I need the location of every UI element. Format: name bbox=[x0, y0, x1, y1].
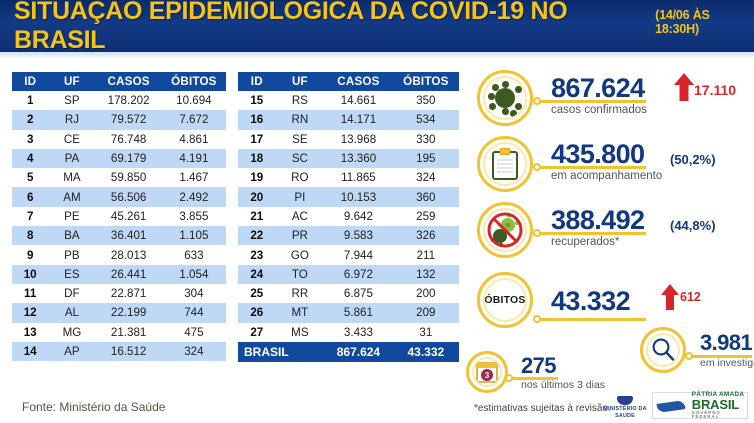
deaths-delta: 612 bbox=[680, 290, 701, 304]
cell-id: 15 bbox=[238, 91, 276, 110]
deaths-value: 43.332 bbox=[551, 286, 630, 317]
investigation-value: 3.981 bbox=[700, 330, 752, 356]
total-label: BRASIL bbox=[238, 342, 324, 362]
cell-obitos: 324 bbox=[162, 342, 226, 361]
cell-uf: PA bbox=[48, 149, 95, 168]
cell-obitos: 7.672 bbox=[162, 110, 226, 129]
cell-id: 10 bbox=[12, 265, 48, 284]
monitoring-icon-ring bbox=[477, 136, 533, 192]
table-row: 6AM56.5062.492 bbox=[12, 187, 226, 206]
cell-obitos: 195 bbox=[393, 149, 459, 168]
cell-obitos: 534 bbox=[393, 110, 459, 129]
brasil-logo-text: PÁTRIA AMADA BRASIL GOVERNO FEDERAL bbox=[692, 392, 747, 420]
cell-casos: 13.360 bbox=[324, 149, 393, 168]
cell-obitos: 633 bbox=[162, 245, 226, 264]
cell-uf: AC bbox=[276, 207, 325, 226]
virus-icon bbox=[488, 81, 522, 115]
cell-obitos: 324 bbox=[393, 168, 459, 187]
cell-obitos: 1.054 bbox=[162, 265, 226, 284]
table-row: 2RJ79.5727.672 bbox=[12, 110, 226, 129]
increase-arrow-icon bbox=[673, 72, 695, 102]
cell-obitos: 4.191 bbox=[162, 149, 226, 168]
col-header-uf: UF bbox=[276, 72, 325, 91]
cell-uf: RR bbox=[276, 284, 325, 303]
cell-obitos: 209 bbox=[393, 303, 459, 322]
table-row: 20PI10.153360 bbox=[238, 187, 459, 206]
cell-id: 22 bbox=[238, 226, 276, 245]
deaths-connector bbox=[540, 318, 646, 321]
table-row: 10ES26.4411.054 bbox=[12, 265, 226, 284]
cell-uf: MT bbox=[276, 303, 325, 322]
cell-uf: PR bbox=[276, 226, 325, 245]
cell-id: 9 bbox=[12, 245, 48, 264]
cell-casos: 9.642 bbox=[324, 207, 393, 226]
cell-id: 21 bbox=[238, 207, 276, 226]
magnifier-icon bbox=[650, 337, 676, 363]
total-casos: 867.624 bbox=[324, 342, 393, 362]
cell-casos: 14.661 bbox=[324, 91, 393, 110]
table-row: 23GO7.944211 bbox=[238, 245, 459, 264]
cell-casos: 6.875 bbox=[324, 284, 393, 303]
cell-obitos: 259 bbox=[393, 207, 459, 226]
cell-uf: CE bbox=[48, 130, 95, 149]
recovered-value: 388.492 bbox=[551, 205, 644, 236]
infographic-root: SITUAÇÃO EPIDEMIOLÓGICA DA COVID-19 NO B… bbox=[0, 0, 754, 423]
ministry-line-2: SAÚDE bbox=[602, 413, 648, 420]
table-row: 13MG21.381475 bbox=[12, 323, 226, 342]
cell-id: 2 bbox=[12, 110, 48, 129]
cell-id: 12 bbox=[12, 303, 48, 322]
cell-uf: PE bbox=[48, 207, 95, 226]
header-bar: SITUAÇÃO EPIDEMIOLÓGICA DA COVID-19 NO B… bbox=[0, 0, 754, 52]
cell-obitos: 1.467 bbox=[162, 168, 226, 187]
cell-id: 3 bbox=[12, 130, 48, 149]
table-row: 25RR6.875200 bbox=[238, 284, 459, 303]
confirmed-icon-ring bbox=[477, 70, 533, 126]
cell-id: 13 bbox=[12, 323, 48, 342]
source-text: Fonte: Ministério da Saúde bbox=[22, 400, 165, 414]
brasil-government-logo: PÁTRIA AMADA BRASIL GOVERNO FEDERAL bbox=[652, 392, 748, 419]
brasil-flag-icon bbox=[654, 393, 688, 418]
table-row: 18SC13.360195 bbox=[238, 149, 459, 168]
cell-uf: PI bbox=[276, 187, 325, 206]
table-header-row: ID UF CASOS ÓBITOS bbox=[12, 72, 226, 91]
table-row: 14AP16.512324 bbox=[12, 342, 226, 361]
cell-obitos: 304 bbox=[162, 284, 226, 303]
cell-id: 7 bbox=[12, 207, 48, 226]
cell-id: 16 bbox=[238, 110, 276, 129]
monitoring-pct: (50,2%) bbox=[670, 152, 716, 167]
cell-id: 17 bbox=[238, 130, 276, 149]
cell-uf: SC bbox=[276, 149, 325, 168]
cell-uf: DF bbox=[48, 284, 95, 303]
clipboard-icon bbox=[490, 147, 520, 181]
cell-id: 6 bbox=[12, 187, 48, 206]
col-header-casos: CASOS bbox=[95, 72, 161, 91]
cell-obitos: 326 bbox=[393, 226, 459, 245]
cell-id: 20 bbox=[238, 187, 276, 206]
cell-uf: MA bbox=[48, 168, 95, 187]
confirmed-label: casos confirmados bbox=[551, 104, 647, 116]
last3days-value: 275 bbox=[521, 353, 556, 379]
table-row: 4PA69.1794.191 bbox=[12, 149, 226, 168]
cell-casos: 22.871 bbox=[95, 284, 161, 303]
cell-uf: PB bbox=[48, 245, 95, 264]
cell-uf: RS bbox=[276, 91, 325, 110]
ministry-shield-icon bbox=[617, 396, 633, 405]
brasil-line-3: GOVERNO FEDERAL bbox=[692, 411, 747, 419]
cell-obitos: 475 bbox=[162, 323, 226, 342]
cell-casos: 14.171 bbox=[324, 110, 393, 129]
cell-id: 1 bbox=[12, 91, 48, 110]
table-left-body: 1SP178.20210.6942RJ79.5727.6723CE76.7484… bbox=[12, 91, 226, 361]
cell-casos: 59.850 bbox=[95, 168, 161, 187]
cell-id: 25 bbox=[238, 284, 276, 303]
cell-casos: 3.433 bbox=[324, 323, 393, 342]
table-row: 5MA59.8501.467 bbox=[12, 168, 226, 187]
cell-casos: 21.381 bbox=[95, 323, 161, 342]
page-title: SITUAÇÃO EPIDEMIOLÓGICA DA COVID-19 NO B… bbox=[14, 0, 648, 55]
cell-uf: AM bbox=[48, 187, 95, 206]
col-header-id: ID bbox=[238, 72, 276, 91]
cell-casos: 16.512 bbox=[95, 342, 161, 361]
col-header-obitos: ÓBITOS bbox=[162, 72, 226, 91]
cell-uf: ES bbox=[48, 265, 95, 284]
recovered-label: recuperados* bbox=[551, 236, 619, 248]
table-right-header: ID UF CASOS ÓBITOS bbox=[238, 72, 459, 91]
recovered-pct: (44,8%) bbox=[670, 218, 716, 233]
table-row: 22PR9.583326 bbox=[238, 226, 459, 245]
col-header-uf: UF bbox=[48, 72, 95, 91]
table-row: 19RO11.865324 bbox=[238, 168, 459, 187]
cell-uf: TO bbox=[276, 265, 325, 284]
table-total-row: BRASIL867.62443.332 bbox=[238, 342, 459, 362]
deaths-icon-ring: ÓBITOS bbox=[477, 272, 533, 328]
table-row: 27MS3.43331 bbox=[238, 323, 459, 342]
footnote-text: *estimativas sujeitas à revisão. bbox=[474, 403, 611, 414]
cell-uf: AP bbox=[48, 342, 95, 361]
cell-id: 26 bbox=[238, 303, 276, 322]
cell-obitos: 10.694 bbox=[162, 91, 226, 110]
cell-obitos: 31 bbox=[393, 323, 459, 342]
monitoring-value: 435.800 bbox=[551, 139, 644, 170]
cell-uf: BA bbox=[48, 226, 95, 245]
table-row: 26MT5.861209 bbox=[238, 303, 459, 322]
cell-casos: 28.013 bbox=[95, 245, 161, 264]
cell-uf: GO bbox=[276, 245, 325, 264]
cell-casos: 9.583 bbox=[324, 226, 393, 245]
cell-casos: 36.401 bbox=[95, 226, 161, 245]
table-row: 24TO6.972132 bbox=[238, 265, 459, 284]
col-header-id: ID bbox=[12, 72, 48, 91]
cell-casos: 11.865 bbox=[324, 168, 393, 187]
table-row: 17SE13.968330 bbox=[238, 130, 459, 149]
cell-casos: 6.972 bbox=[324, 265, 393, 284]
cell-id: 24 bbox=[238, 265, 276, 284]
cell-casos: 45.261 bbox=[95, 207, 161, 226]
cell-uf: SE bbox=[276, 130, 325, 149]
cell-id: 4 bbox=[12, 149, 48, 168]
investigation-label: em investigação bbox=[700, 357, 754, 369]
cell-casos: 26.441 bbox=[95, 265, 161, 284]
cell-casos: 178.202 bbox=[95, 91, 161, 110]
cell-casos: 7.944 bbox=[324, 245, 393, 264]
cell-id: 18 bbox=[238, 149, 276, 168]
cell-obitos: 330 bbox=[393, 130, 459, 149]
cell-obitos: 2.492 bbox=[162, 187, 226, 206]
table-row: 12AL22.199744 bbox=[12, 303, 226, 322]
cell-casos: 13.968 bbox=[324, 130, 393, 149]
header-date: (14/06 ÀS 18:30H) bbox=[655, 8, 754, 36]
investigation-icon-ring bbox=[640, 327, 686, 373]
cell-casos: 10.153 bbox=[324, 187, 393, 206]
cell-id: 8 bbox=[12, 226, 48, 245]
cell-obitos: 211 bbox=[393, 245, 459, 264]
cell-obitos: 132 bbox=[393, 265, 459, 284]
confirmed-delta: 17.110 bbox=[694, 82, 736, 98]
state-table-right: ID UF CASOS ÓBITOS 15RS14.66135016RN14.1… bbox=[238, 72, 459, 362]
cell-obitos: 4.861 bbox=[162, 130, 226, 149]
table-right-body: 15RS14.66135016RN14.17153417SE13.9683301… bbox=[238, 91, 459, 362]
cell-casos: 56.506 bbox=[95, 187, 161, 206]
table-row: 1SP178.20210.694 bbox=[12, 91, 226, 110]
cell-uf: RO bbox=[276, 168, 325, 187]
cell-obitos: 3.855 bbox=[162, 207, 226, 226]
state-table-left: ID UF CASOS ÓBITOS 1SP178.20210.6942RJ79… bbox=[12, 72, 226, 361]
calendar-icon: 3 bbox=[475, 360, 499, 384]
monitoring-label: em acompanhamento bbox=[551, 170, 662, 182]
table-row: 15RS14.661350 bbox=[238, 91, 459, 110]
last3days-icon-ring: 3 bbox=[466, 351, 508, 393]
cell-uf: MG bbox=[48, 323, 95, 342]
cell-id: 5 bbox=[12, 168, 48, 187]
cell-casos: 76.748 bbox=[95, 130, 161, 149]
cell-id: 14 bbox=[12, 342, 48, 361]
cell-uf: SP bbox=[48, 91, 95, 110]
table-left-header: ID UF CASOS ÓBITOS bbox=[12, 72, 226, 91]
ministry-logo: MINISTÉRIO DA SAÚDE bbox=[602, 396, 648, 421]
cell-casos: 69.179 bbox=[95, 149, 161, 168]
table-row: 7PE45.2613.855 bbox=[12, 207, 226, 226]
cell-casos: 22.199 bbox=[95, 303, 161, 322]
recovered-icon-ring bbox=[477, 202, 533, 258]
table-row: 21AC9.642259 bbox=[238, 207, 459, 226]
table-row: 11DF22.871304 bbox=[12, 284, 226, 303]
deaths-increase-arrow-icon bbox=[660, 283, 680, 311]
cell-casos: 79.572 bbox=[95, 110, 161, 129]
cell-id: 19 bbox=[238, 168, 276, 187]
cell-id: 11 bbox=[12, 284, 48, 303]
col-header-obitos: ÓBITOS bbox=[393, 72, 459, 91]
no-virus-icon bbox=[487, 212, 523, 248]
cell-id: 23 bbox=[238, 245, 276, 264]
cell-obitos: 350 bbox=[393, 91, 459, 110]
cell-id: 27 bbox=[238, 323, 276, 342]
table-row: 9PB28.013633 bbox=[12, 245, 226, 264]
cell-obitos: 1.105 bbox=[162, 226, 226, 245]
col-header-casos: CASOS bbox=[324, 72, 393, 91]
table-row: 3CE76.7484.861 bbox=[12, 130, 226, 149]
header-inner: SITUAÇÃO EPIDEMIOLÓGICA DA COVID-19 NO B… bbox=[0, 0, 754, 55]
table-header-row: ID UF CASOS ÓBITOS bbox=[238, 72, 459, 91]
cell-uf: MS bbox=[276, 323, 325, 342]
last3days-label: nos últimos 3 dias bbox=[521, 379, 605, 391]
cell-obitos: 744 bbox=[162, 303, 226, 322]
deaths-circle-label: ÓBITOS bbox=[484, 294, 525, 306]
cell-uf: RJ bbox=[48, 110, 95, 129]
cell-obitos: 360 bbox=[393, 187, 459, 206]
table-row: 16RN14.171534 bbox=[238, 110, 459, 129]
table-row: 8BA36.4011.105 bbox=[12, 226, 226, 245]
confirmed-value: 867.624 bbox=[551, 73, 644, 104]
svg-text:3: 3 bbox=[485, 371, 490, 380]
cell-uf: RN bbox=[276, 110, 325, 129]
cell-uf: AL bbox=[48, 303, 95, 322]
cell-obitos: 200 bbox=[393, 284, 459, 303]
total-obitos: 43.332 bbox=[393, 342, 459, 362]
cell-casos: 5.861 bbox=[324, 303, 393, 322]
header-divider-strip bbox=[0, 52, 754, 59]
